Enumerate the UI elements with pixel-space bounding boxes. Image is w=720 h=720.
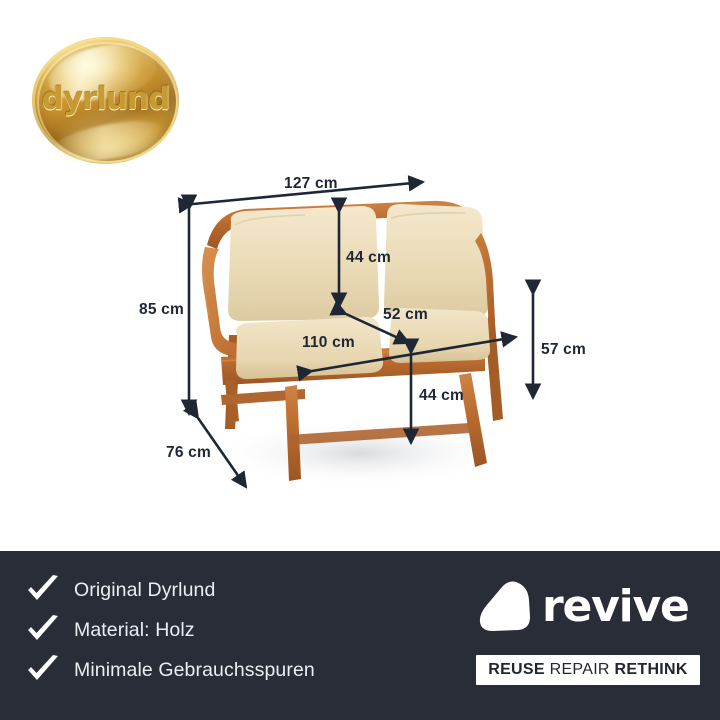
feature-item: Minimale Gebrauchsspuren bbox=[26, 651, 446, 689]
tagline-word-reuse: REUSE bbox=[488, 661, 545, 678]
dimension-label-seat-depth: 52 cm bbox=[383, 306, 428, 324]
tagline-word-rethink: RETHINK bbox=[615, 661, 688, 678]
feature-list: Original Dyrlund Material: Holz Minimale… bbox=[26, 571, 446, 691]
feature-label: Original Dyrlund bbox=[74, 579, 215, 602]
revive-logo: revive bbox=[476, 575, 700, 639]
check-icon bbox=[26, 615, 60, 645]
brand-badge-dyrlund: dyrlund bbox=[32, 37, 179, 164]
dimension-label-width: 127 cm bbox=[284, 175, 338, 193]
revive-leaf-mark-icon bbox=[476, 579, 536, 635]
product-photo-area: dyrlund bbox=[0, 0, 720, 551]
revive-logo-block: revive REUSE REPAIR RETHINK bbox=[476, 575, 700, 685]
feature-item: Material: Holz bbox=[26, 611, 446, 649]
feature-label: Material: Holz bbox=[74, 619, 195, 642]
check-icon bbox=[26, 575, 60, 605]
brand-wordmark: dyrlund bbox=[32, 81, 179, 117]
product-image-card: dyrlund bbox=[0, 0, 720, 720]
feature-item: Original Dyrlund bbox=[26, 571, 446, 609]
sofa-svg bbox=[185, 185, 545, 505]
dimension-label-arm-height: 57 cm bbox=[541, 341, 586, 359]
dimension-label-seat-height: 44 cm bbox=[419, 387, 464, 405]
product-illustration-sofa bbox=[185, 185, 545, 505]
dimension-label-depth: 76 cm bbox=[166, 444, 211, 462]
dimension-label-total-height: 85 cm bbox=[139, 301, 184, 319]
dimension-label-back-height: 44 cm bbox=[346, 249, 391, 267]
check-icon bbox=[26, 655, 60, 685]
revive-tagline: REUSE REPAIR RETHINK bbox=[476, 655, 700, 685]
feature-label: Minimale Gebrauchsspuren bbox=[74, 659, 315, 682]
info-bar: Original Dyrlund Material: Holz Minimale… bbox=[0, 551, 720, 720]
revive-wordmark: revive bbox=[542, 585, 689, 629]
dimension-label-seat-width: 110 cm bbox=[302, 334, 355, 352]
tagline-word-repair: REPAIR bbox=[550, 661, 610, 678]
